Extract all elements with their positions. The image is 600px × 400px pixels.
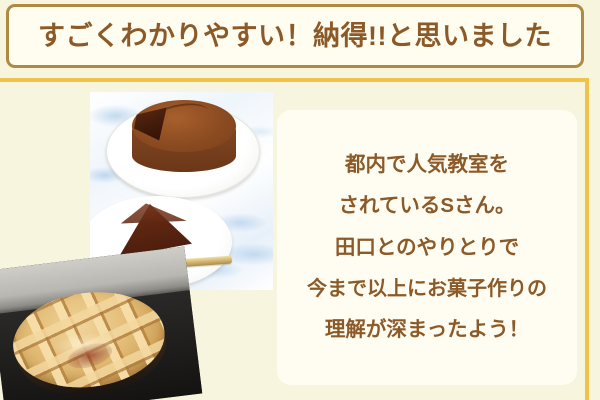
testimonial-line: 田口とのやりとりで <box>335 238 519 259</box>
header-box: すごくわかりやすい！納得!!と思いました <box>6 4 584 68</box>
testimonial-line: 都内で人気教室を <box>345 155 509 176</box>
pie-crust <box>8 284 170 396</box>
testimonial-line: 今まで以上にお菓子作りの <box>307 279 547 299</box>
horizontal-accent-rule <box>0 78 589 82</box>
apple-pie-photo <box>0 246 202 400</box>
promo-banner: すごくわかりやすい！納得!!と思いました 都内で人気教室を されているSさん。 … <box>0 0 600 400</box>
page-title: すごくわかりやすい！納得!!と思いました <box>38 23 552 50</box>
testimonial-card: 都内で人気教室を されているSさん。 田口とのやりとりで 今まで以上にお菓子作り… <box>277 110 577 385</box>
testimonial-line: 理解が深まったよう！ <box>325 320 529 341</box>
vertical-accent-rule <box>585 78 589 400</box>
testimonial-line: されているSさん。 <box>338 196 515 217</box>
